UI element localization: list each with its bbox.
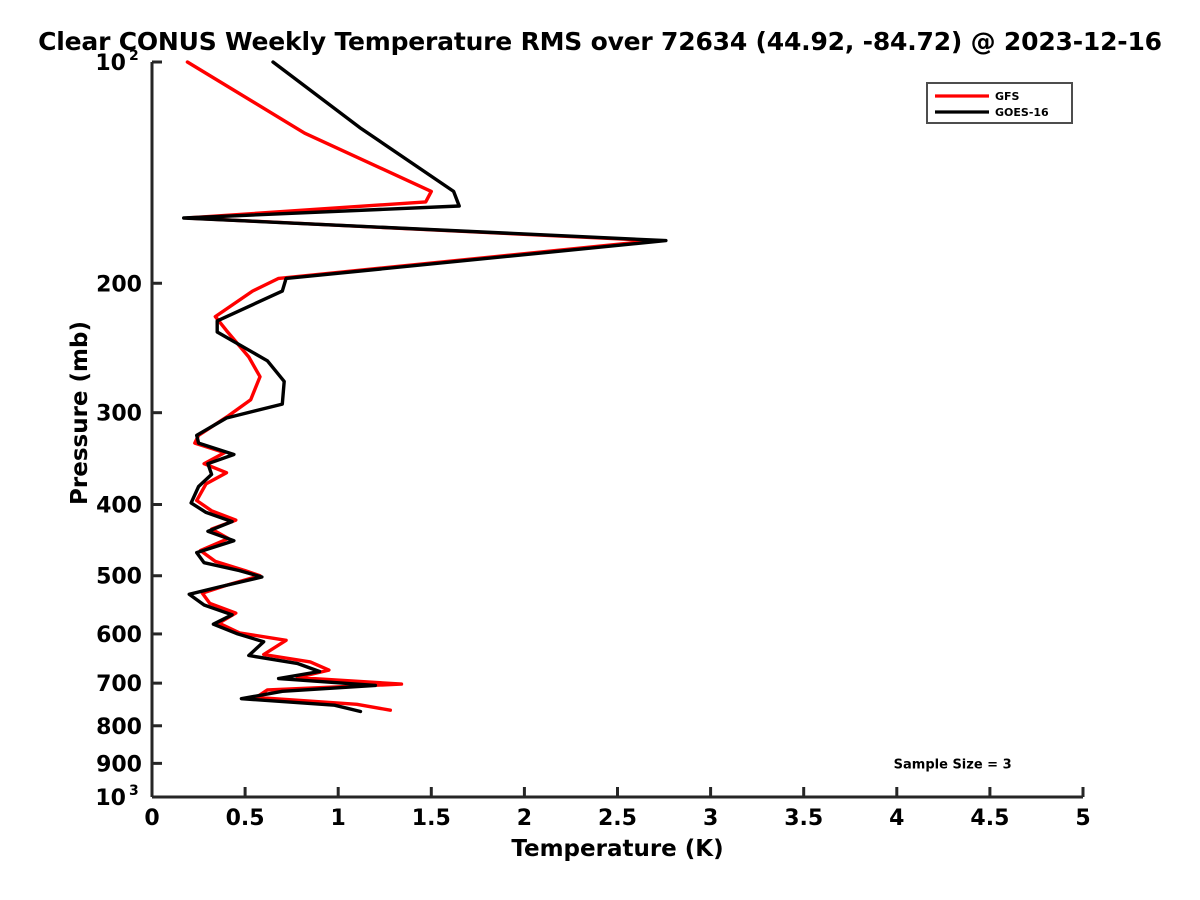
plot-area: 00.511.522.533.544.551022003004005006007… bbox=[0, 0, 1200, 900]
x-tick-label: 2 bbox=[517, 806, 532, 831]
x-tick-label: 1 bbox=[331, 806, 346, 831]
y-tick-label: 600 bbox=[96, 623, 142, 648]
legend: GFSGOES-16 bbox=[927, 83, 1072, 123]
y-tick-exponent: 3 bbox=[129, 783, 139, 799]
x-tick-label: 3 bbox=[703, 806, 718, 831]
x-tick-label: 4 bbox=[889, 806, 904, 831]
axis-ticks: 00.511.522.533.544.551022003004005006007… bbox=[95, 48, 1090, 831]
y-tick-label: 300 bbox=[96, 402, 142, 427]
x-tick-label: 3.5 bbox=[784, 806, 823, 831]
series-line-gfs bbox=[187, 62, 654, 710]
y-tick-label: 700 bbox=[96, 672, 142, 697]
y-tick-label: 500 bbox=[96, 565, 142, 590]
sample-size-text: Sample Size = 3 bbox=[894, 758, 1012, 773]
y-tick-label: 10 bbox=[95, 786, 126, 811]
data-series-group bbox=[184, 62, 666, 712]
y-tick-label: 200 bbox=[96, 272, 142, 297]
legend-label-gfs: GFS bbox=[995, 90, 1020, 103]
x-tick-label: 0.5 bbox=[226, 806, 265, 831]
y-tick-label: 400 bbox=[96, 494, 142, 519]
y-tick-exponent: 2 bbox=[129, 48, 139, 64]
y-tick-label: 900 bbox=[96, 752, 142, 777]
x-tick-label: 5 bbox=[1075, 806, 1090, 831]
legend-label-goes-16: GOES-16 bbox=[995, 106, 1049, 119]
x-tick-label: 4.5 bbox=[970, 806, 1009, 831]
axis-lines bbox=[152, 62, 1083, 797]
sample-size-annotation: Sample Size = 3 bbox=[894, 758, 1012, 773]
x-tick-label: 0 bbox=[144, 806, 159, 831]
y-tick-label: 800 bbox=[96, 715, 142, 740]
y-tick-label: 10 bbox=[95, 51, 126, 76]
x-tick-label: 1.5 bbox=[412, 806, 451, 831]
figure-container: Clear CONUS Weekly Temperature RMS over … bbox=[0, 0, 1200, 900]
x-tick-label: 2.5 bbox=[598, 806, 637, 831]
